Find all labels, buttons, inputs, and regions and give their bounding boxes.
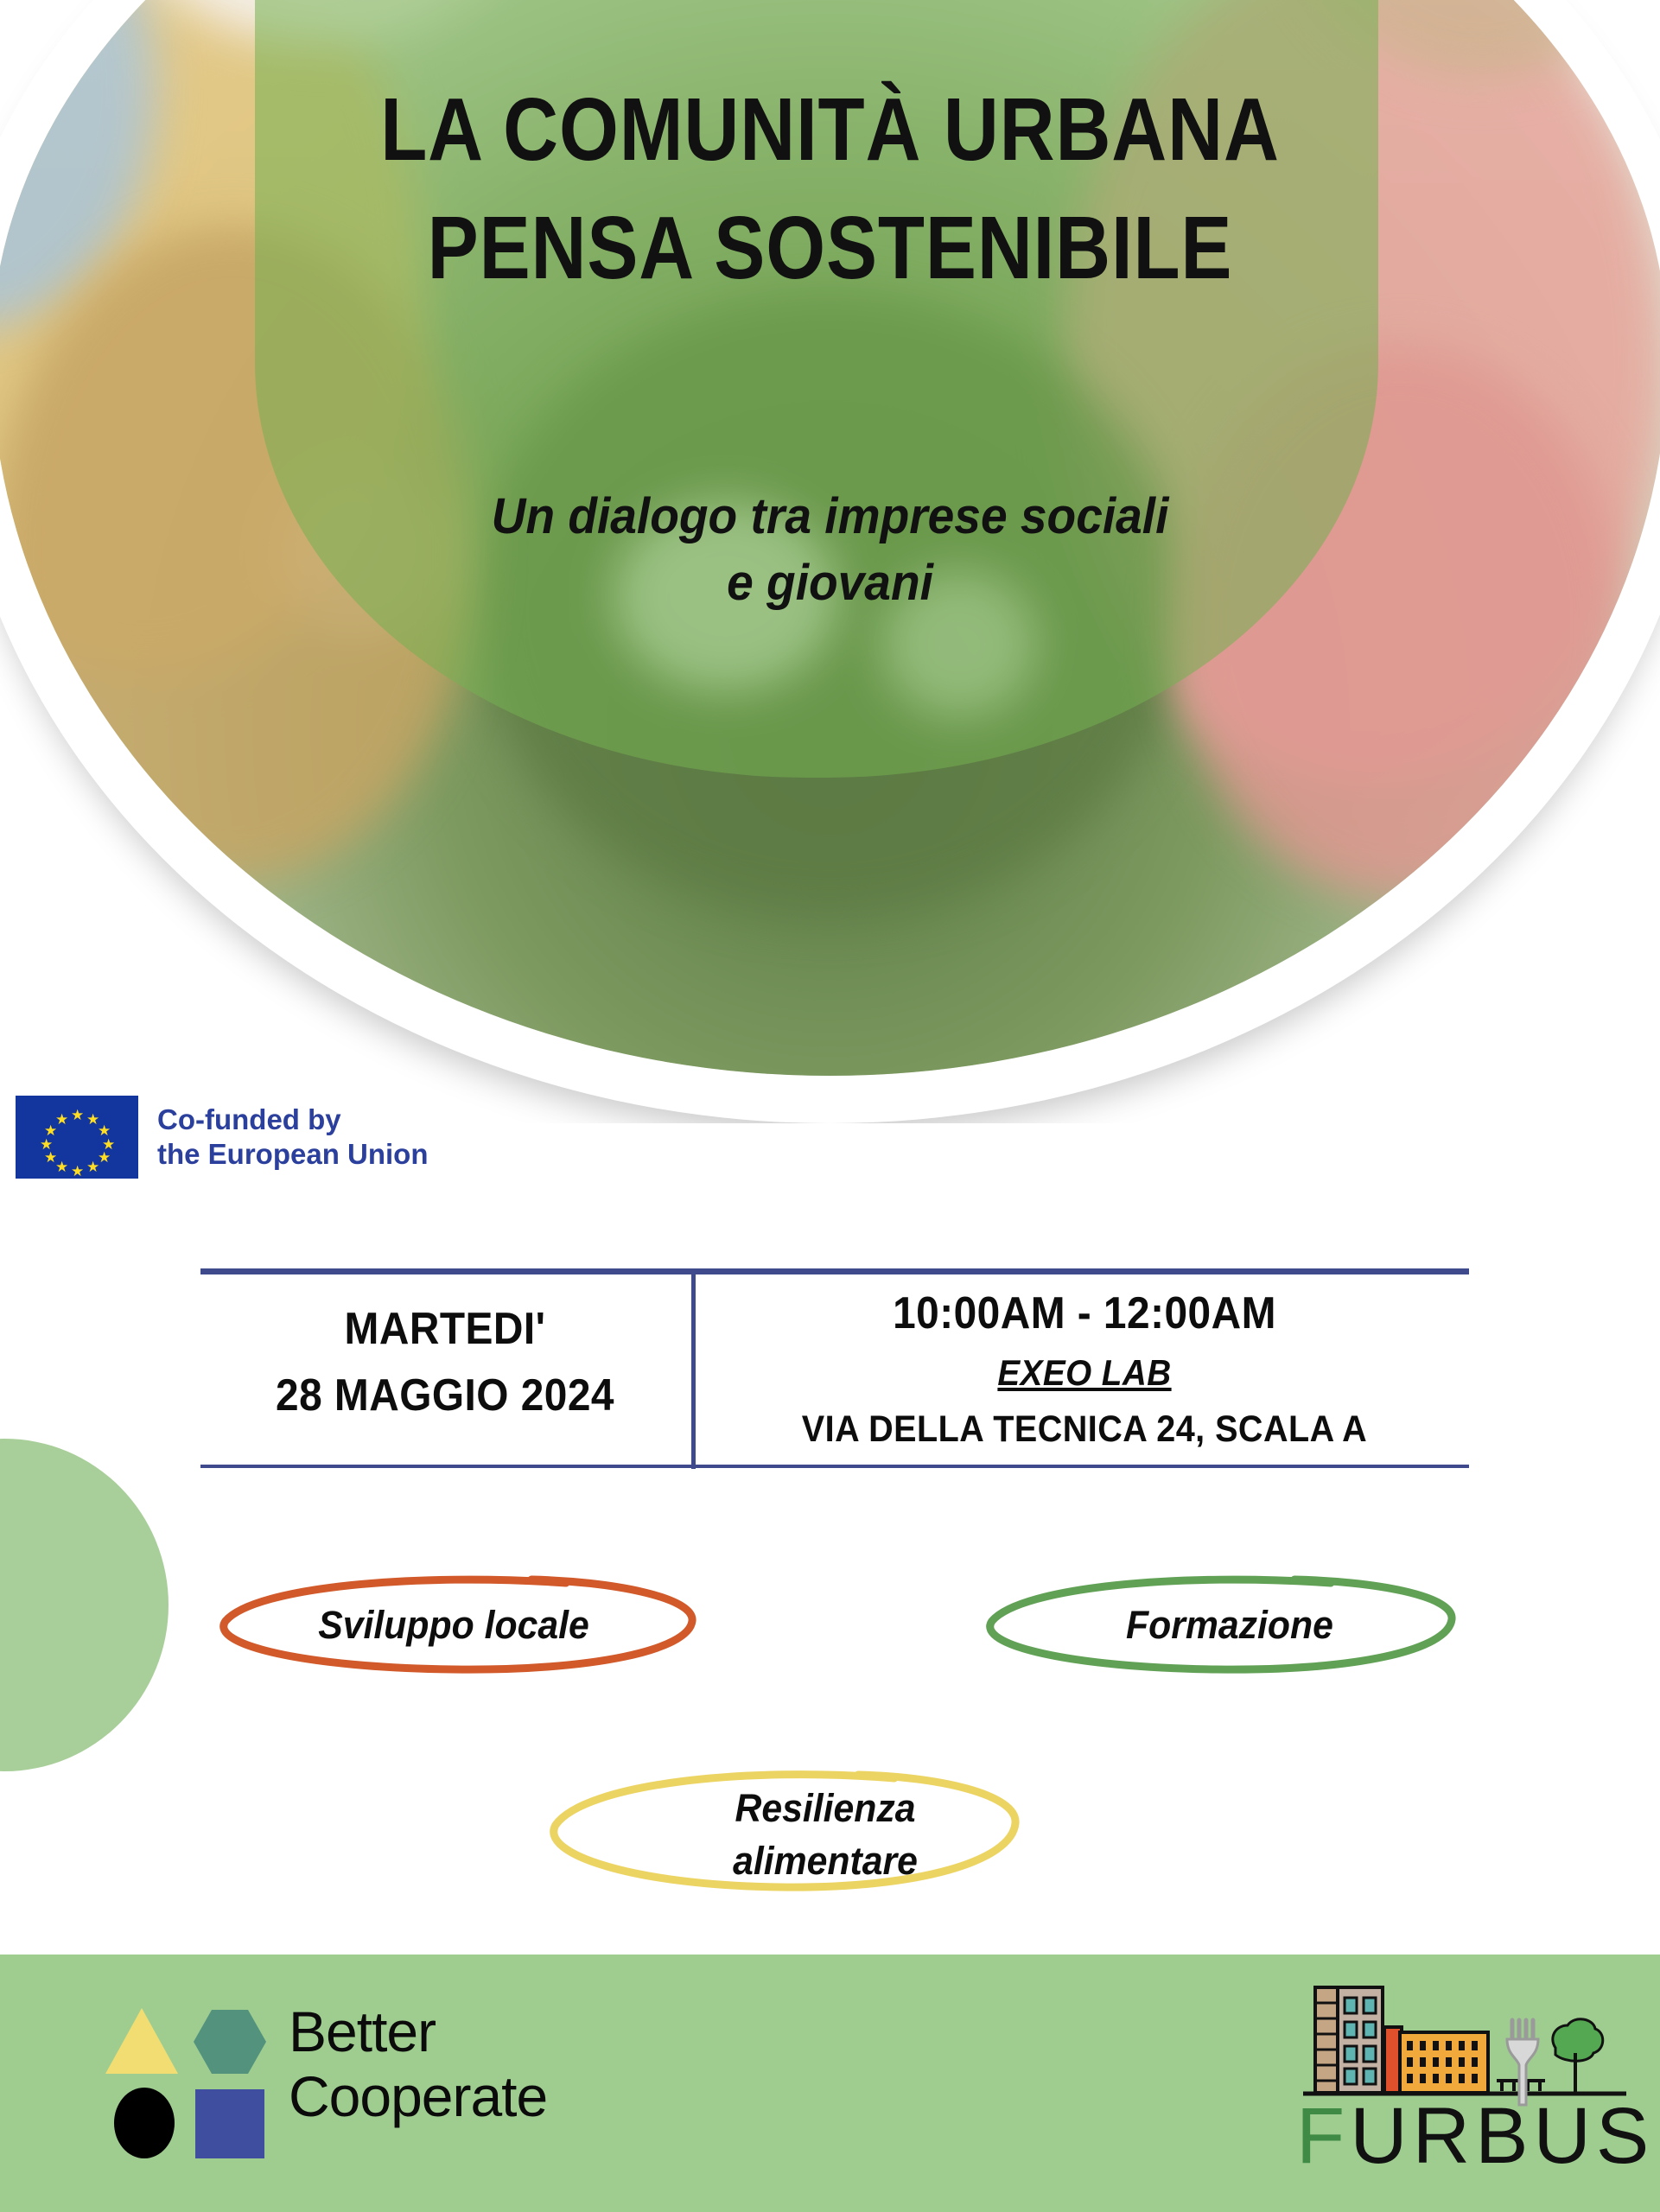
triangle-icon bbox=[105, 2008, 178, 2074]
building-wide-icon bbox=[1400, 2032, 1488, 2093]
title-line-2: PENSA SOSTENIBILE bbox=[116, 196, 1543, 299]
event-time: 10:00AM - 12:00AM bbox=[731, 1286, 1439, 1341]
furbus-wordmark: FURBUS bbox=[1296, 2096, 1633, 2176]
event-weekday: MARTEDI' bbox=[220, 1296, 671, 1363]
divider-bottom bbox=[200, 1465, 1469, 1468]
building-tall-icon bbox=[1315, 1987, 1383, 2093]
furbus-rest: URBUS bbox=[1350, 2092, 1654, 2180]
eu-caption-line-2: the European Union bbox=[157, 1137, 429, 1172]
better-cooperate-shapes bbox=[105, 2008, 270, 2155]
keyword-label: Formazione bbox=[995, 1599, 1464, 1651]
eu-badge-caption: Co-funded by the European Union bbox=[157, 1103, 429, 1173]
eu-funding-badge: ★ ★ ★ ★ ★ ★ ★ ★ ★ ★ ★ ★ Co-funded by the… bbox=[16, 1096, 429, 1179]
eu-flag-icon: ★ ★ ★ ★ ★ ★ ★ ★ ★ ★ ★ ★ bbox=[16, 1096, 138, 1179]
decorative-green-circle bbox=[0, 1439, 169, 1771]
keyword-sviluppo-locale: Sviluppo locale bbox=[203, 1571, 704, 1675]
hexagon-icon bbox=[194, 2010, 266, 2074]
furbus-logo: FURBUS bbox=[1296, 1979, 1633, 2195]
brand-line-1: Better bbox=[289, 1999, 547, 2064]
subtitle-line-2: e giovani bbox=[41, 550, 1619, 617]
keyword-label-line-1: Resilienza bbox=[591, 1782, 1059, 1834]
keyword-label: Resilienza alimentare bbox=[591, 1782, 1059, 1887]
divider-vertical bbox=[691, 1272, 696, 1469]
divider-top bbox=[200, 1268, 1469, 1274]
keyword-label: Sviluppo locale bbox=[216, 1599, 692, 1651]
furbus-initial: F bbox=[1296, 2092, 1350, 2180]
footer-band: Better Cooperate bbox=[0, 1955, 1660, 2212]
subtitle-line-1: Un dialogo tra imprese sociali bbox=[41, 484, 1619, 550]
event-venue-address: VIA DELLA TECNICA 24, SCALA A bbox=[731, 1406, 1439, 1454]
event-venue-block: 10:00AM - 12:00AM EXEO LAB VIA DELLA TEC… bbox=[731, 1286, 1439, 1454]
event-date-block: MARTEDI' 28 MAGGIO 2024 bbox=[220, 1296, 671, 1429]
page-title: LA COMUNITÀ URBANA PENSA SOSTENIBILE bbox=[116, 78, 1543, 300]
keyword-resilienza-alimentare: Resilienza alimentare bbox=[531, 1764, 1024, 1894]
better-cooperate-logo: Better Cooperate bbox=[105, 1994, 624, 2167]
title-line-1: LA COMUNITÀ URBANA bbox=[380, 79, 1280, 179]
eu-caption-line-1: Co-funded by bbox=[157, 1103, 429, 1137]
brand-line-2: Cooperate bbox=[289, 2064, 547, 2129]
ellipse-icon bbox=[114, 2088, 175, 2158]
better-cooperate-wordmark: Better Cooperate bbox=[289, 1999, 547, 2129]
event-date: 28 MAGGIO 2024 bbox=[220, 1363, 671, 1429]
event-venue-name: EXEO LAB bbox=[731, 1350, 1439, 1397]
page-subtitle: Un dialogo tra imprese sociali e giovani bbox=[41, 484, 1619, 616]
hero-section: LA COMUNITÀ URBANA PENSA SOSTENIBILE Un … bbox=[0, 0, 1660, 1123]
tree-icon bbox=[1553, 2019, 1603, 2093]
keyword-label-line-2: alimentare bbox=[591, 1834, 1059, 1887]
keyword-formazione: Formazione bbox=[968, 1571, 1460, 1675]
furbus-illustration bbox=[1296, 1979, 1633, 2108]
square-icon bbox=[195, 2089, 264, 2158]
